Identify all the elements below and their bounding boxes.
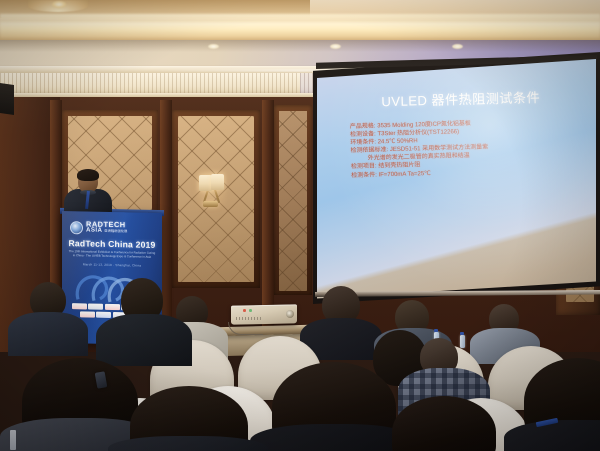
bottle-cap-icon bbox=[434, 329, 438, 332]
downlight-icon bbox=[330, 44, 341, 49]
sponsor-logo bbox=[96, 311, 111, 317]
cove-lighting-glow bbox=[0, 22, 600, 38]
projector-status-led bbox=[243, 309, 246, 312]
projection-screen[interactable]: UVLED 器件热阻测试条件 产品规格: 3535 Molding 120度IC… bbox=[313, 52, 600, 312]
attendee-lanyard bbox=[10, 430, 16, 450]
sponsor-logo bbox=[72, 303, 87, 309]
slide-title: UVLED 器件热阻测试条件 bbox=[358, 86, 563, 111]
conference-room-photo: UVLED 器件热阻测试条件 产品规格: 3535 Molding 120度IC… bbox=[0, 0, 600, 451]
presenter-hair bbox=[77, 169, 99, 181]
projector-lens-icon bbox=[286, 310, 294, 318]
projector-vent bbox=[236, 317, 262, 320]
sconce-base bbox=[203, 201, 218, 207]
water-bottle-icon bbox=[460, 335, 465, 348]
projector-status-led bbox=[249, 309, 252, 312]
downlight-icon bbox=[452, 44, 463, 49]
diamond-quilted-panel bbox=[279, 111, 307, 291]
logo-asia-word: ASIA bbox=[86, 227, 102, 234]
sponsor-logo bbox=[80, 311, 95, 317]
radtech-seal-icon bbox=[70, 221, 83, 234]
downlight-icon bbox=[208, 44, 219, 49]
attendee-shoulders bbox=[108, 436, 268, 451]
ceiling-speaker-icon bbox=[0, 83, 14, 115]
sponsor-logo bbox=[88, 303, 103, 309]
upper-wall-shadow bbox=[0, 40, 600, 52]
event-title: RadTech China 2019 bbox=[62, 238, 162, 250]
ceiling-light-icon bbox=[52, 1, 66, 8]
logo-asia-text: ASIA 亚洲辐射固化展 bbox=[86, 228, 127, 235]
sponsor-logo bbox=[105, 304, 120, 310]
slide-body: 产品规格: 3535 Molding 120度ICP氮化铝基板 检测设备: T3… bbox=[350, 117, 581, 180]
attendee-shoulders bbox=[96, 314, 192, 366]
podium-logo: RADTECH ASIA 亚洲辐射固化展 bbox=[70, 219, 156, 237]
slide: UVLED 器件热阻测试条件 产品规格: 3535 Molding 120度IC… bbox=[317, 49, 600, 300]
sconce-shade-icon bbox=[211, 174, 224, 190]
logo-asia-cjk: 亚洲辐射固化展 bbox=[104, 229, 127, 233]
attendee-shoulders bbox=[8, 312, 88, 356]
bottle-cap-icon bbox=[460, 332, 464, 335]
